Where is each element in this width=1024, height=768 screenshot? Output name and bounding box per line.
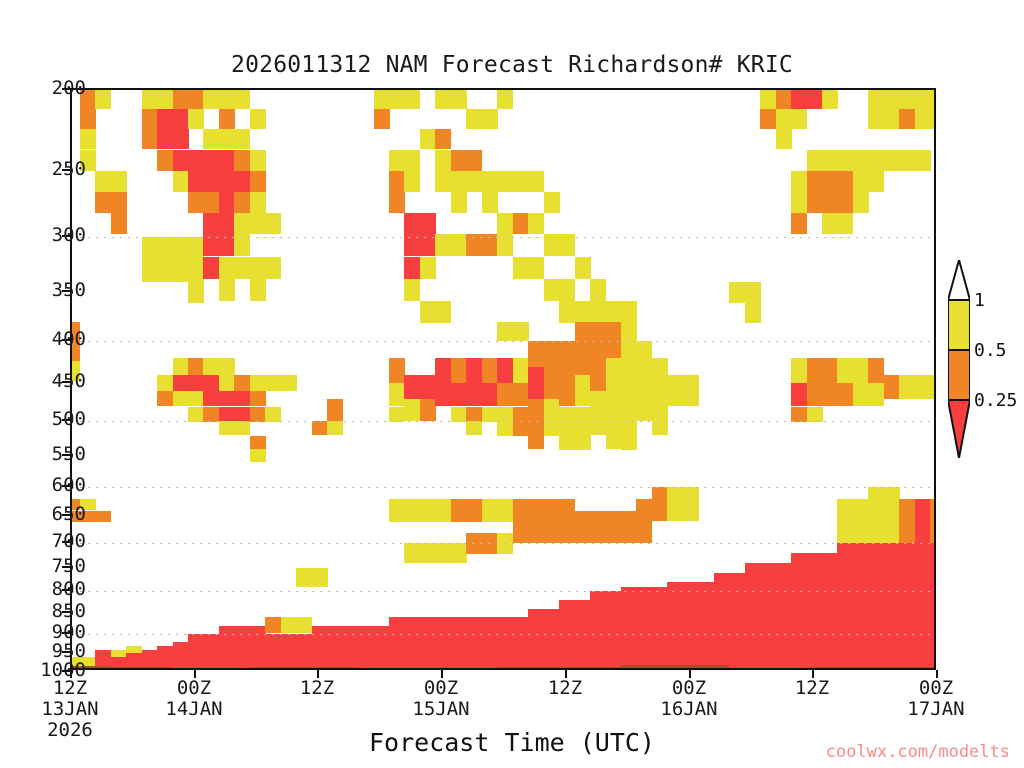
- heatmap-cell: [466, 234, 482, 256]
- heatmap-cell: [466, 109, 482, 129]
- heatmap-cell: [667, 375, 683, 406]
- heatmap-cell: [915, 109, 931, 129]
- heatmap-cell: [404, 171, 420, 192]
- watermark: coolwx.com/modelts: [826, 742, 1010, 762]
- heatmap-cell: [837, 192, 853, 213]
- heatmap-cell: [497, 358, 513, 383]
- heatmap-cell: [404, 499, 420, 522]
- heatmap-cell: [219, 626, 235, 670]
- heatmap-cell: [544, 609, 560, 670]
- heatmap-cell: [404, 257, 420, 279]
- heatmap-cell: [312, 421, 328, 435]
- heatmap-cell: [111, 213, 127, 234]
- heatmap-cell: [234, 626, 250, 670]
- heatmap-cell: [265, 213, 281, 234]
- x-tick-time: 12Z: [41, 678, 98, 699]
- heatmap-cell: [188, 171, 204, 192]
- heatmap-cell: [482, 171, 498, 192]
- heatmap-cell: [404, 375, 420, 399]
- heatmap-cell: [157, 129, 173, 149]
- heatmap-cell: [528, 367, 544, 399]
- heatmap-cell: [776, 563, 792, 670]
- heatmap-cell: [435, 171, 451, 192]
- heatmap-cell: [451, 617, 467, 670]
- heatmap-cell: [374, 626, 390, 670]
- heatmap-cell: [621, 301, 637, 323]
- heatmap-cell: [837, 499, 853, 543]
- heatmap-cell: [435, 301, 451, 323]
- heatmap-cell: [188, 407, 204, 422]
- heatmap-cell: [157, 237, 173, 260]
- heatmap-cell: [219, 171, 235, 192]
- heatmap-cell: [868, 109, 884, 129]
- x-tick-time: 00Z: [907, 678, 964, 699]
- heatmap-cell: [497, 617, 513, 670]
- heatmap-cell: [219, 279, 235, 301]
- heatmap-cell: [188, 90, 204, 109]
- heatmap-cell: [559, 341, 575, 375]
- x-tick-date: 13JAN: [41, 699, 98, 720]
- colorbar-tick-label: 0.25: [974, 390, 1017, 411]
- heatmap-cell: [482, 234, 498, 256]
- heatmap-cell: [265, 375, 281, 391]
- heatmap-cell: [807, 150, 823, 171]
- heatmap-cell: [265, 407, 281, 422]
- heatmap-cell: [250, 213, 266, 234]
- heatmap-cell: [837, 543, 853, 670]
- x-tick-label: 12Z13JAN2026: [41, 678, 98, 741]
- heatmap-cell: [884, 543, 900, 670]
- heatmap-cell: [265, 257, 281, 279]
- heatmap-cell: [791, 213, 807, 234]
- heatmap-cell: [203, 150, 219, 171]
- terrain-segment: [95, 667, 172, 668]
- heatmap-cell: [420, 399, 436, 421]
- heatmap-cell: [234, 213, 250, 234]
- heatmap-cell: [173, 109, 189, 129]
- heatmap-cell: [636, 587, 652, 670]
- heatmap-cell: [219, 109, 235, 129]
- heatmap-cell: [868, 383, 884, 406]
- heatmap-cell: [358, 626, 374, 670]
- heatmap-cell: [575, 407, 591, 450]
- heatmap-cell: [606, 322, 622, 358]
- heatmap-cell: [435, 358, 451, 383]
- heatmap-cell: [296, 634, 312, 670]
- heatmap-cell: [930, 109, 936, 129]
- heatmap-cell: [915, 150, 931, 171]
- heatmap-cell: [621, 367, 637, 407]
- heatmap-cell: [451, 171, 467, 192]
- x-tick-time: 12Z: [300, 678, 334, 699]
- heatmap-cell: [575, 341, 591, 375]
- heatmap-cell: [435, 129, 451, 149]
- heatmap-cell: [435, 543, 451, 563]
- heatmap-cell: [853, 171, 869, 192]
- heatmap-cells: [72, 90, 934, 668]
- heatmap-cell: [157, 109, 173, 129]
- heatmap-cell: [219, 375, 235, 391]
- heatmap-cell: [791, 383, 807, 406]
- heatmap-cell: [915, 90, 931, 109]
- heatmap-cell: [482, 192, 498, 213]
- y-tick-label: 600: [52, 474, 86, 496]
- heatmap-cell: [482, 358, 498, 383]
- heatmap-cell: [95, 90, 111, 109]
- heatmap-cell: [559, 407, 575, 450]
- heatmap-cell: [760, 90, 776, 109]
- heatmap-cell: [868, 543, 884, 670]
- heatmap-cell: [250, 279, 266, 301]
- heatmap-cell: [575, 600, 591, 670]
- heatmap-cell: [296, 617, 312, 633]
- heatmap-cell: [791, 358, 807, 383]
- heatmap-cell: [791, 109, 807, 129]
- heatmap-cell: [466, 533, 482, 554]
- heatmap-cell: [188, 282, 204, 303]
- heatmap-cell: [203, 257, 219, 279]
- heatmap-cell: [636, 375, 652, 421]
- heatmap-cell: [559, 234, 575, 256]
- colorbar-tick-label: 0.5: [974, 340, 1007, 361]
- colorbar-legend[interactable]: 10.50.25: [948, 300, 970, 450]
- heatmap-cell: [698, 582, 714, 670]
- heatmap-cell: [404, 543, 420, 563]
- heatmap-cell: [482, 499, 498, 522]
- heatmap-cell: [404, 234, 420, 256]
- heatmap-cell: [930, 90, 936, 109]
- heatmap-cell: [791, 171, 807, 192]
- heatmap-cell: [760, 109, 776, 129]
- y-tick-label: 400: [52, 328, 86, 350]
- terrain-segment: [497, 667, 636, 668]
- heatmap-cell: [868, 90, 884, 109]
- heatmap-cell: [930, 375, 936, 399]
- heatmap-cell: [528, 257, 544, 279]
- heatmap-cell: [389, 617, 405, 670]
- x-tick-label: 00Z16JAN: [660, 678, 717, 720]
- heatmap-cell: [559, 499, 575, 543]
- heatmap-cell: [528, 213, 544, 234]
- heatmap-cell: [544, 192, 560, 213]
- heatmap-cell: [188, 358, 204, 375]
- heatmap-cell: [590, 391, 606, 435]
- heatmap-cell: [219, 421, 235, 435]
- heatmap-cell: [868, 358, 884, 383]
- heatmap-cell: [420, 213, 436, 234]
- heatmap-cell: [80, 109, 96, 129]
- y-tick-label: 850: [52, 600, 86, 622]
- y-tick-label: 800: [52, 578, 86, 600]
- heatmap-cell: [250, 257, 266, 279]
- heatmap-cell: [188, 260, 204, 282]
- heatmap-cell: [482, 383, 498, 406]
- heatmap-cell: [822, 90, 838, 109]
- heatmap-cell: [111, 657, 127, 670]
- heatmap-cell: [513, 322, 529, 341]
- heatmap-cell: [528, 421, 544, 449]
- heatmap-cell: [559, 375, 575, 406]
- heatmap-cell: [899, 90, 915, 109]
- heatmap-cell: [807, 383, 823, 406]
- chart-title: 2026011312 NAM Forecast Richardson# KRIC: [0, 52, 1024, 78]
- heatmap-cell: [466, 421, 482, 435]
- heatmap-cell: [915, 499, 931, 543]
- heatmap-cell: [451, 150, 467, 171]
- heatmap-cell: [853, 383, 869, 406]
- heatmap-cell: [575, 257, 591, 279]
- heatmap-cell: [466, 358, 482, 383]
- heatmap-cell: [822, 171, 838, 192]
- heatmap-cell: [250, 171, 266, 192]
- y-tick-label: 650: [52, 503, 86, 525]
- heatmap-cell: [219, 391, 235, 406]
- heatmap-cell: [142, 90, 158, 109]
- heatmap-cell: [915, 543, 931, 670]
- heatmap-cell: [250, 109, 266, 129]
- heatmap-cell: [203, 407, 219, 422]
- x-tick-date: 14JAN: [165, 699, 222, 720]
- heatmap-cell: [899, 499, 915, 543]
- heatmap-cell: [404, 399, 420, 421]
- heatmap-cell: [95, 171, 111, 192]
- heatmap-cell: [497, 90, 513, 109]
- heatmap-cell: [451, 543, 467, 563]
- heatmap-cell: [466, 407, 482, 422]
- heatmap-cell: [636, 499, 652, 543]
- x-tick-label: 12Z: [548, 678, 582, 699]
- heatmap-cell: [745, 282, 761, 303]
- heatmap-cell: [219, 213, 235, 234]
- y-tick-label: 450: [52, 370, 86, 392]
- heatmap-cell: [497, 499, 513, 522]
- heatmap-cell: [807, 192, 823, 213]
- heatmap-cell: [513, 213, 529, 234]
- heatmap-cell: [435, 234, 451, 256]
- heatmap-cell: [853, 499, 869, 543]
- heatmap-cell: [497, 322, 513, 341]
- heatmap-cell: [234, 90, 250, 109]
- heatmap-cell: [250, 449, 266, 462]
- x-tick-time: 00Z: [660, 678, 717, 699]
- heatmap-cell: [760, 563, 776, 670]
- heatmap-cell: [915, 375, 931, 399]
- heatmap-cell: [590, 301, 606, 323]
- heatmap-cell: [420, 257, 436, 279]
- heatmap-cell: [219, 234, 235, 256]
- heatmap-cell: [575, 322, 591, 341]
- heatmap-cell: [435, 383, 451, 406]
- heatmap-cell: [404, 150, 420, 171]
- heatmap-cell: [513, 171, 529, 192]
- heatmap-cell: [513, 383, 529, 406]
- x-tick-label: 12Z: [300, 678, 334, 699]
- heatmap-cell: [173, 129, 189, 149]
- heatmap-cell: [111, 192, 127, 213]
- heatmap-cell: [173, 237, 189, 260]
- heatmap-cell: [219, 150, 235, 171]
- x-tick-time: 12Z: [548, 678, 582, 699]
- heatmap-cell: [188, 391, 204, 406]
- heatmap-cell: [188, 634, 204, 670]
- heatmap-cell: [389, 358, 405, 383]
- heatmap-cell: [513, 499, 529, 543]
- heatmap-cell: [435, 150, 451, 171]
- heatmap-cell: [590, 322, 606, 358]
- heatmap-cell: [451, 358, 467, 383]
- heatmap-cell: [667, 582, 683, 670]
- heatmap-cell: [606, 511, 622, 543]
- heatmap-cell: [528, 171, 544, 192]
- heatmap-cell: [606, 591, 622, 670]
- x-tick-date: 16JAN: [660, 699, 717, 720]
- heatmap-cell: [884, 109, 900, 129]
- heatmap-cell: [729, 282, 745, 303]
- colorbar-cap-top: [948, 260, 970, 300]
- heatmap-cell: [250, 391, 266, 406]
- heatmap-cell: [776, 90, 792, 109]
- heatmap-cell: [868, 150, 884, 171]
- heatmap-cell: [451, 383, 467, 406]
- heatmap-cell: [173, 260, 189, 282]
- heatmap-cell: [250, 407, 266, 422]
- heatmap-cell: [544, 234, 560, 256]
- x-tick-label: 00Z14JAN: [165, 678, 222, 720]
- heatmap-cell: [899, 109, 915, 129]
- heatmap-cell: [451, 192, 467, 213]
- heatmap-cell: [791, 407, 807, 422]
- heatmap-cell: [188, 192, 204, 213]
- heatmap-cell: [528, 609, 544, 670]
- heatmap-cell: [497, 407, 513, 436]
- heatmap-cell: [203, 634, 219, 670]
- heatmap-cell: [219, 90, 235, 109]
- heatmap-cell: [868, 171, 884, 192]
- y-tick-label: 200: [52, 77, 86, 99]
- heatmap-cell: [652, 391, 668, 435]
- heatmap-cell: [188, 109, 204, 129]
- heatmap-cell: [683, 375, 699, 406]
- heatmap-cell: [791, 192, 807, 213]
- heatmap-cell: [142, 237, 158, 260]
- x-tick-label: 12Z: [795, 678, 829, 699]
- heatmap-cell: [853, 543, 869, 670]
- heatmap-cell: [822, 383, 838, 406]
- heatmap-cell: [513, 257, 529, 279]
- heatmap-cell: [157, 150, 173, 171]
- heatmap-cell: [544, 499, 560, 543]
- x-tick-time: 00Z: [412, 678, 469, 699]
- heatmap-cell: [930, 543, 936, 670]
- heatmap-cell: [745, 303, 761, 323]
- heatmap-cell: [807, 358, 823, 383]
- heatmap-cell: [80, 129, 96, 149]
- heatmap-cell: [482, 533, 498, 554]
- heatmap-cell: [807, 90, 823, 109]
- heatmap-cell: [188, 237, 204, 260]
- heatmap-cell: [234, 407, 250, 422]
- heatmap-cell: [435, 617, 451, 670]
- y-tick-label: 550: [52, 443, 86, 465]
- heatmap-cell: [389, 407, 405, 422]
- heatmap-cell: [389, 192, 405, 213]
- heatmap-cell: [389, 150, 405, 171]
- y-tick-label: 250: [52, 158, 86, 180]
- heatmap-cell: [203, 358, 219, 375]
- heatmap-cell: [807, 407, 823, 422]
- heatmap-cell: [234, 375, 250, 391]
- heatmap-cell: [776, 129, 792, 149]
- heatmap-cell: [389, 171, 405, 192]
- heatmap-cell: [157, 375, 173, 391]
- x-tick-time: 00Z: [165, 678, 222, 699]
- heatmap-cell: [219, 257, 235, 279]
- heatmap-cell: [683, 487, 699, 521]
- heatmap-cell: [544, 399, 560, 436]
- heatmap-cell: [420, 499, 436, 522]
- heatmap-cell: [203, 90, 219, 109]
- colorbar-tick-label: 1: [974, 290, 985, 311]
- heatmap-cell: [219, 192, 235, 213]
- chart-root: 2026011312 NAM Forecast Richardson# KRIC…: [0, 0, 1024, 768]
- heatmap-cell: [219, 129, 235, 149]
- heatmap-cell: [528, 341, 544, 367]
- heatmap-cell: [791, 90, 807, 109]
- heatmap-cell: [884, 150, 900, 171]
- heatmap-cell: [837, 383, 853, 406]
- heatmap-cell: [343, 626, 359, 670]
- heatmap-cell: [559, 301, 575, 323]
- heatmap-cell: [95, 192, 111, 213]
- heatmap-cell: [837, 171, 853, 192]
- heatmap-cell: [482, 617, 498, 670]
- heatmap-cell: [837, 358, 853, 383]
- heatmap-cell: [157, 391, 173, 406]
- heatmap-cell: [497, 171, 513, 192]
- heatmap-cell: [203, 129, 219, 149]
- heatmap-cell: [188, 150, 204, 171]
- heatmap-cell: [497, 213, 513, 234]
- heatmap-cell: [930, 499, 936, 543]
- heatmap-cell: [544, 341, 560, 367]
- heatmap-cell: [590, 358, 606, 391]
- heatmap-cell: [884, 487, 900, 543]
- colorbar-band-orange: [948, 350, 970, 400]
- heatmap-cell: [296, 568, 312, 587]
- heatmap-cell: [528, 399, 544, 421]
- heatmap-cell: [420, 543, 436, 563]
- heatmap-cell: [420, 617, 436, 670]
- heatmap-cell: [683, 582, 699, 670]
- heatmap-cell: [590, 279, 606, 301]
- heatmap-cell: [621, 322, 637, 367]
- heatmap-cell: [420, 129, 436, 149]
- heatmap-cell: [389, 499, 405, 522]
- heatmap-cell: [404, 90, 420, 109]
- heatmap-cell: [791, 553, 807, 670]
- heatmap-cell: [203, 213, 219, 234]
- heatmap-cell: [853, 150, 869, 171]
- heatmap-cell: [404, 213, 420, 234]
- heatmap-cell: [559, 600, 575, 670]
- heatmap-cell: [420, 375, 436, 399]
- heatmap-cell: [203, 375, 219, 391]
- heatmap-cell: [157, 260, 173, 282]
- heatmap-cell: [606, 358, 622, 399]
- heatmap-cell: [173, 391, 189, 406]
- heatmap-cell: [234, 171, 250, 192]
- heatmap-cell: [173, 375, 189, 391]
